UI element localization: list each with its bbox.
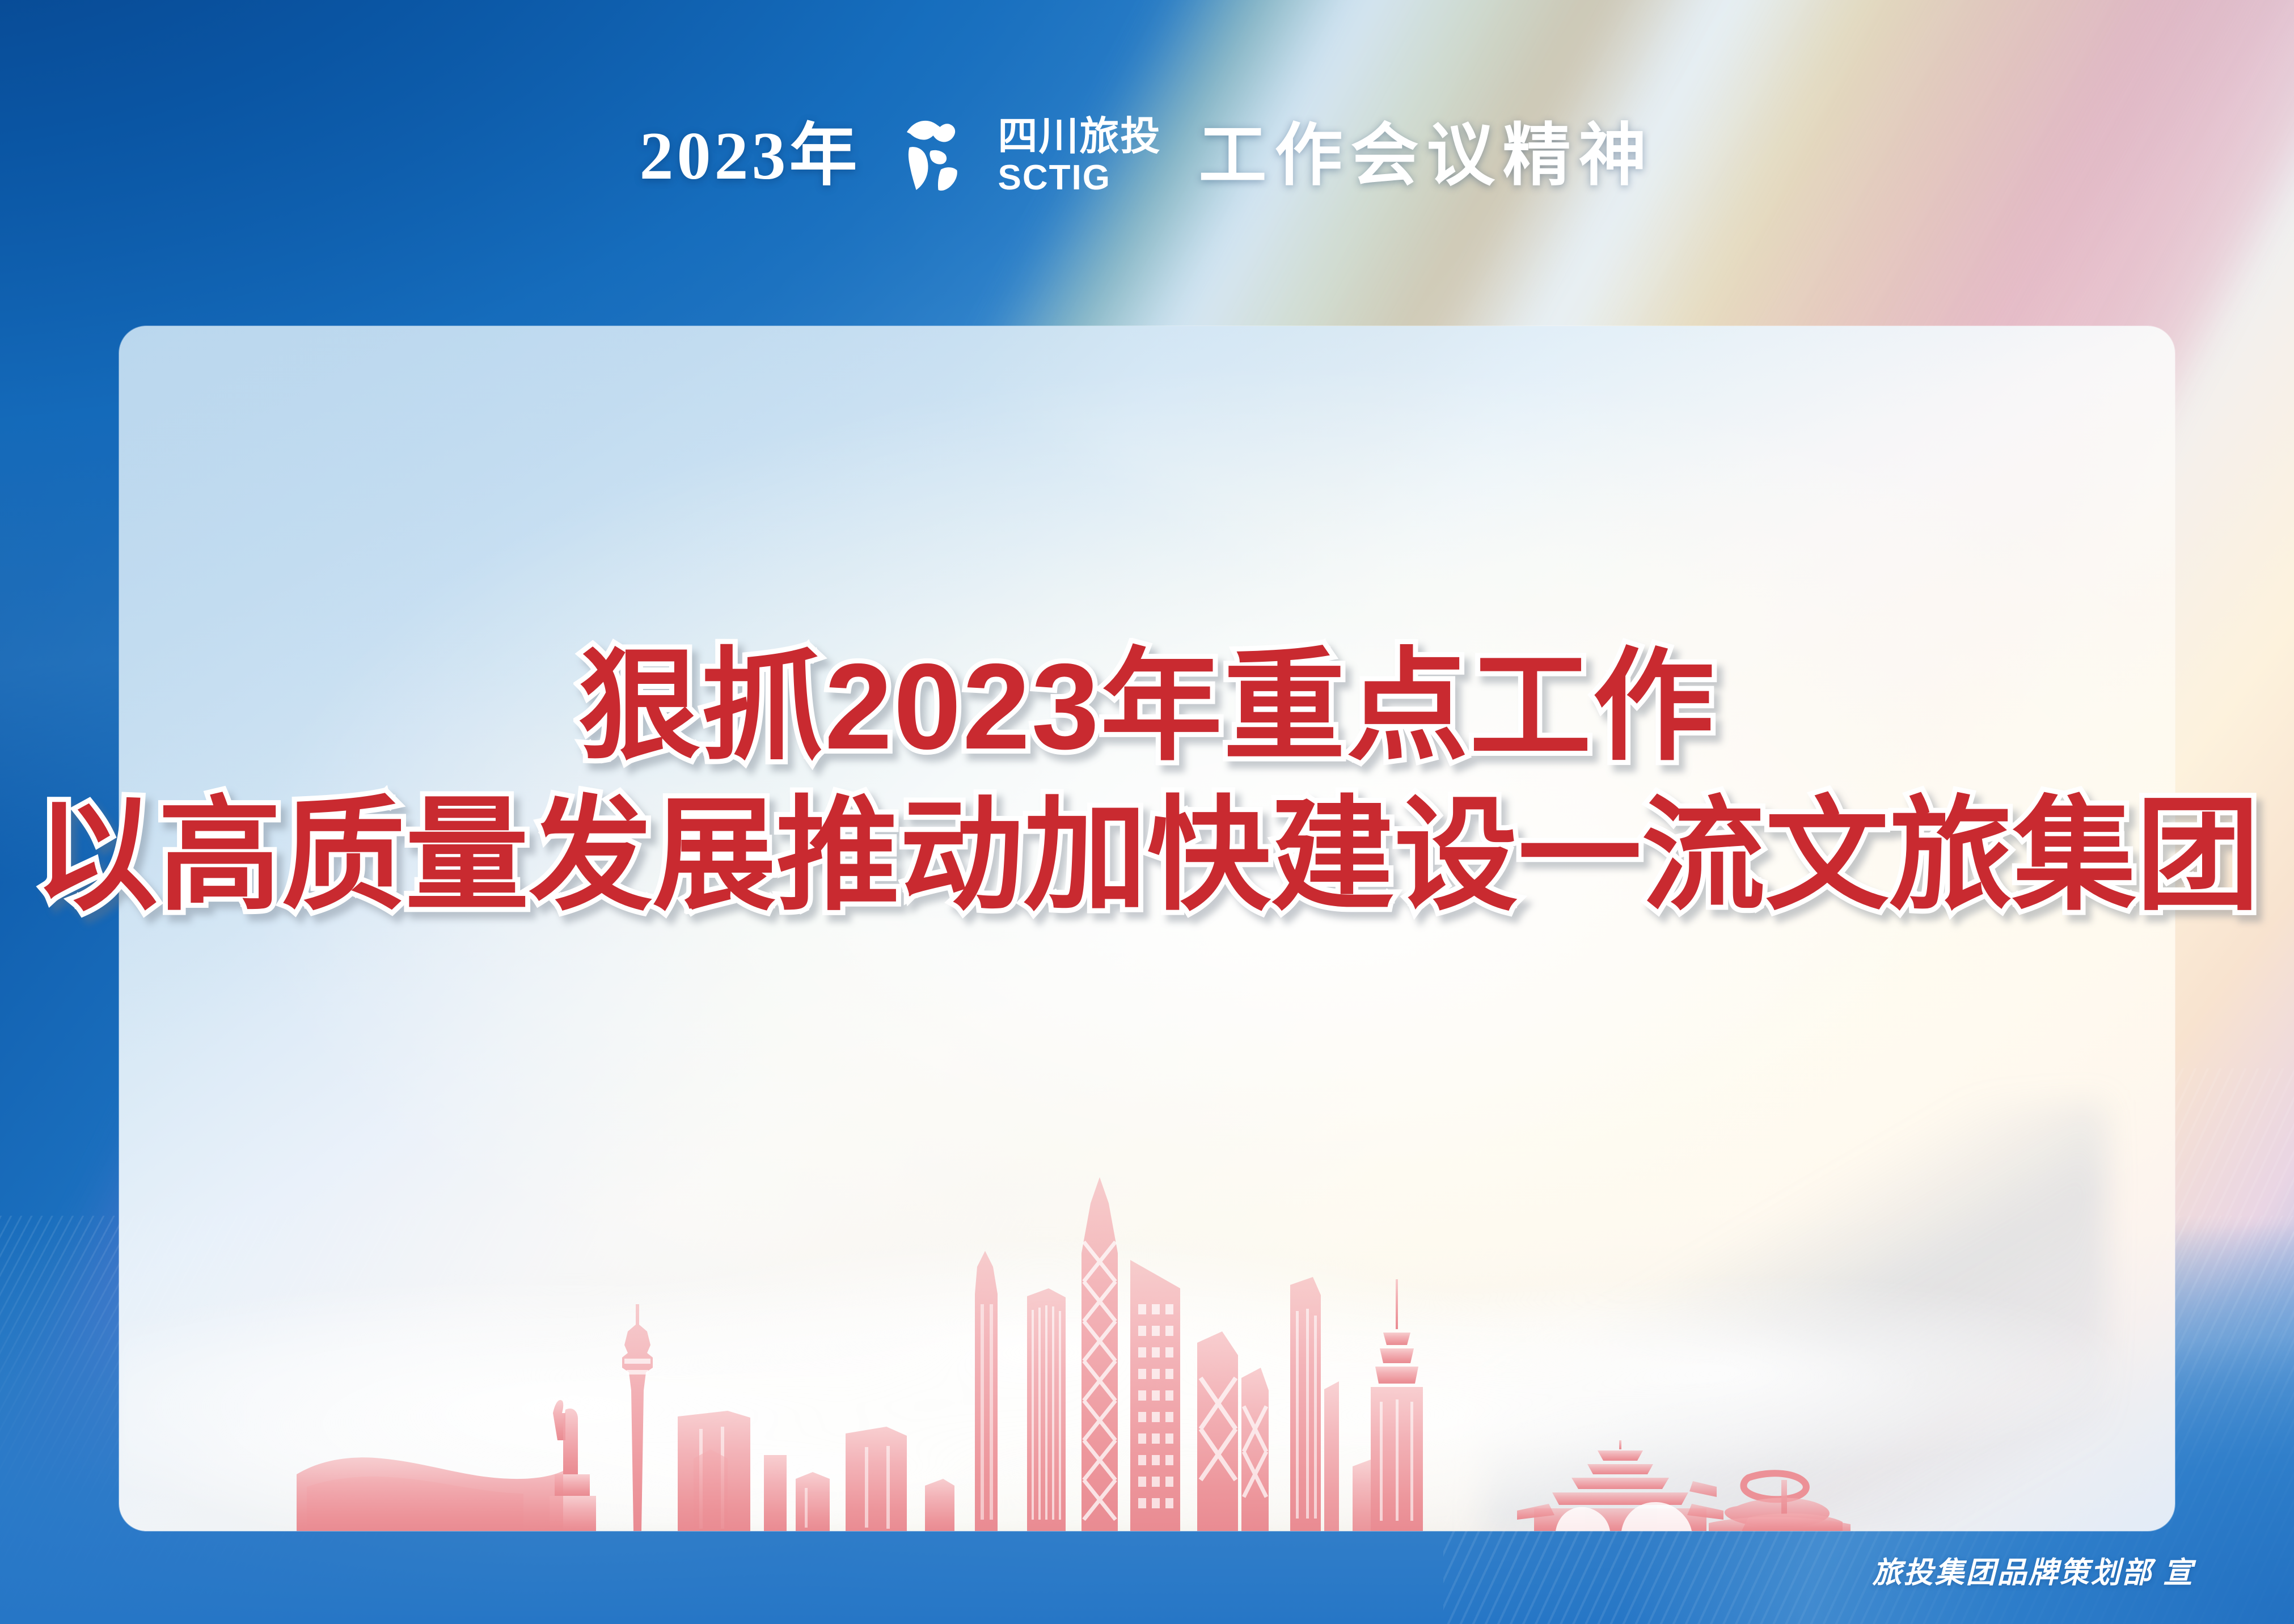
footer-credit: 旅投集团品牌策划部 宣 — [1873, 1549, 2194, 1591]
content-card — [119, 326, 2175, 1531]
brand-logo-wordmark: 四川旅投 SCTIG — [998, 116, 1161, 196]
brand-name-english: SCTIG — [998, 160, 1111, 196]
brand-name-chinese: 四川旅投 — [998, 116, 1161, 156]
poster-title-block: 狠抓2023年重点工作 以高质量发展推动加快建设一流文旅集团 — [0, 641, 2294, 923]
page-title-line-1: 狠抓2023年重点工作 — [0, 641, 2294, 772]
sctig-globe-logo-icon — [898, 113, 983, 198]
poster-canvas: 2023年 四川旅投 SCTIG 工作会议精神 — [0, 0, 2294, 1624]
card-clouds — [119, 964, 2175, 1531]
page-title-line-2: 以高质量发展推动加快建设一流文旅集团 — [0, 789, 2294, 923]
header-subject-label: 工作会议精神 — [1199, 122, 1655, 190]
poster-header: 2023年 四川旅投 SCTIG 工作会议精神 — [0, 85, 2294, 227]
header-year-label: 2023年 — [640, 122, 861, 190]
brand-logo: 四川旅投 SCTIG — [898, 113, 1161, 198]
